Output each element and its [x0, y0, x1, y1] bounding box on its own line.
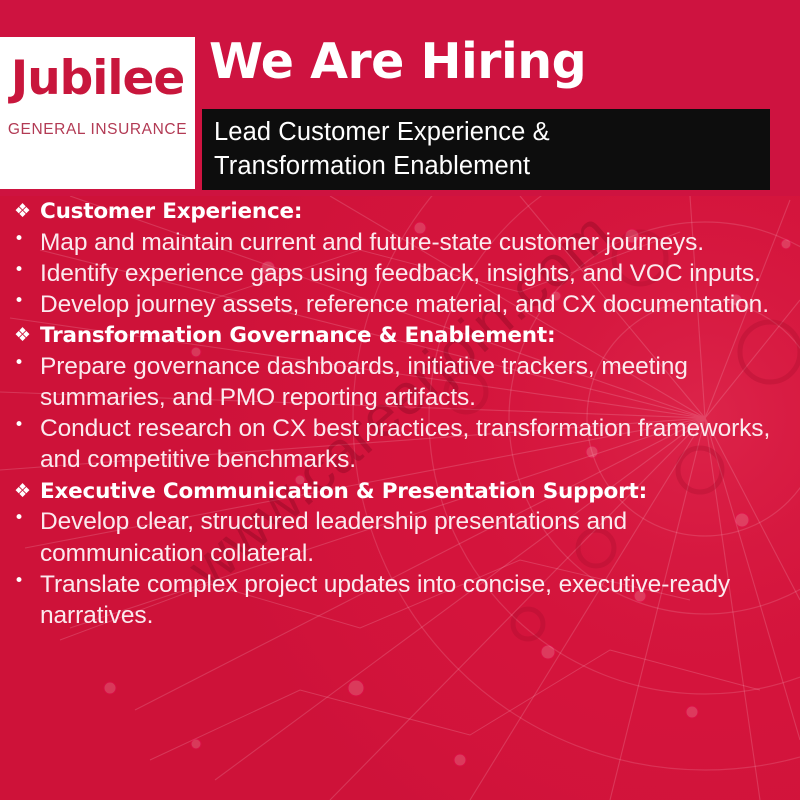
company-logo-panel: Jubilee GENERAL INSURANCE: [0, 37, 195, 189]
bullet-item: •Identify experience gaps using feedback…: [0, 258, 800, 289]
company-logo-subtitle: GENERAL INSURANCE: [0, 121, 195, 139]
dot-bullet-icon: •: [14, 569, 40, 594]
poster-header: Jubilee GENERAL INSURANCE We Are Hiring …: [0, 0, 800, 196]
section-title: Transformation Governance & Enablement:: [40, 323, 790, 350]
bullet-item: •Conduct research on CX best practices, …: [0, 413, 800, 475]
bullet-item: •Develop journey assets, reference mater…: [0, 289, 800, 320]
bullet-text: Prepare governance dashboards, initiativ…: [40, 351, 784, 413]
responsibility-section: ❖Customer Experience:•Map and maintain c…: [0, 199, 800, 320]
section-title: Customer Experience:: [40, 199, 790, 226]
dot-bullet-icon: •: [14, 258, 40, 283]
bullet-text: Develop journey assets, reference materi…: [40, 289, 784, 320]
bullet-text: Identify experience gaps using feedback,…: [40, 258, 784, 289]
bullet-item: •Map and maintain current and future-sta…: [0, 227, 800, 258]
dot-bullet-icon: •: [14, 227, 40, 252]
bullet-text: Translate complex project updates into c…: [40, 569, 784, 631]
diamond-bullet-icon: ❖: [14, 199, 40, 223]
responsibility-section: ❖Transformation Governance & Enablement:…: [0, 323, 800, 475]
bullet-text: Map and maintain current and future-stat…: [40, 227, 784, 258]
job-posting-poster: Jubilee GENERAL INSURANCE We Are Hiring …: [0, 0, 800, 800]
section-title: Executive Communication & Presentation S…: [40, 479, 790, 506]
dot-bullet-icon: •: [14, 506, 40, 531]
dot-bullet-icon: •: [14, 289, 40, 314]
diamond-bullet-icon: ❖: [14, 323, 40, 347]
role-title-line-1: Lead Customer Experience &: [214, 116, 760, 150]
diamond-bullet-icon: ❖: [14, 479, 40, 503]
bullet-item: •Develop clear, structured leadership pr…: [0, 506, 800, 568]
responsibility-section: ❖Executive Communication & Presentation …: [0, 479, 800, 631]
role-title-box: Lead Customer Experience & Transformatio…: [202, 109, 770, 190]
section-header: ❖Executive Communication & Presentation …: [0, 479, 800, 506]
bullet-text: Develop clear, structured leadership pre…: [40, 506, 784, 568]
section-header: ❖Transformation Governance & Enablement:: [0, 323, 800, 350]
role-title-line-2: Transformation Enablement: [214, 150, 760, 184]
bullet-item: •Prepare governance dashboards, initiati…: [0, 351, 800, 413]
dot-bullet-icon: •: [14, 351, 40, 376]
hiring-headline: We Are Hiring: [209, 36, 586, 87]
role-title: Lead Customer Experience & Transformatio…: [214, 116, 760, 184]
company-logo-wordmark: Jubilee: [0, 55, 195, 102]
bullet-item: •Translate complex project updates into …: [0, 569, 800, 631]
bullet-text: Conduct research on CX best practices, t…: [40, 413, 784, 475]
section-header: ❖Customer Experience:: [0, 199, 800, 226]
responsibilities-content: ❖Customer Experience:•Map and maintain c…: [0, 196, 800, 631]
dot-bullet-icon: •: [14, 413, 40, 438]
